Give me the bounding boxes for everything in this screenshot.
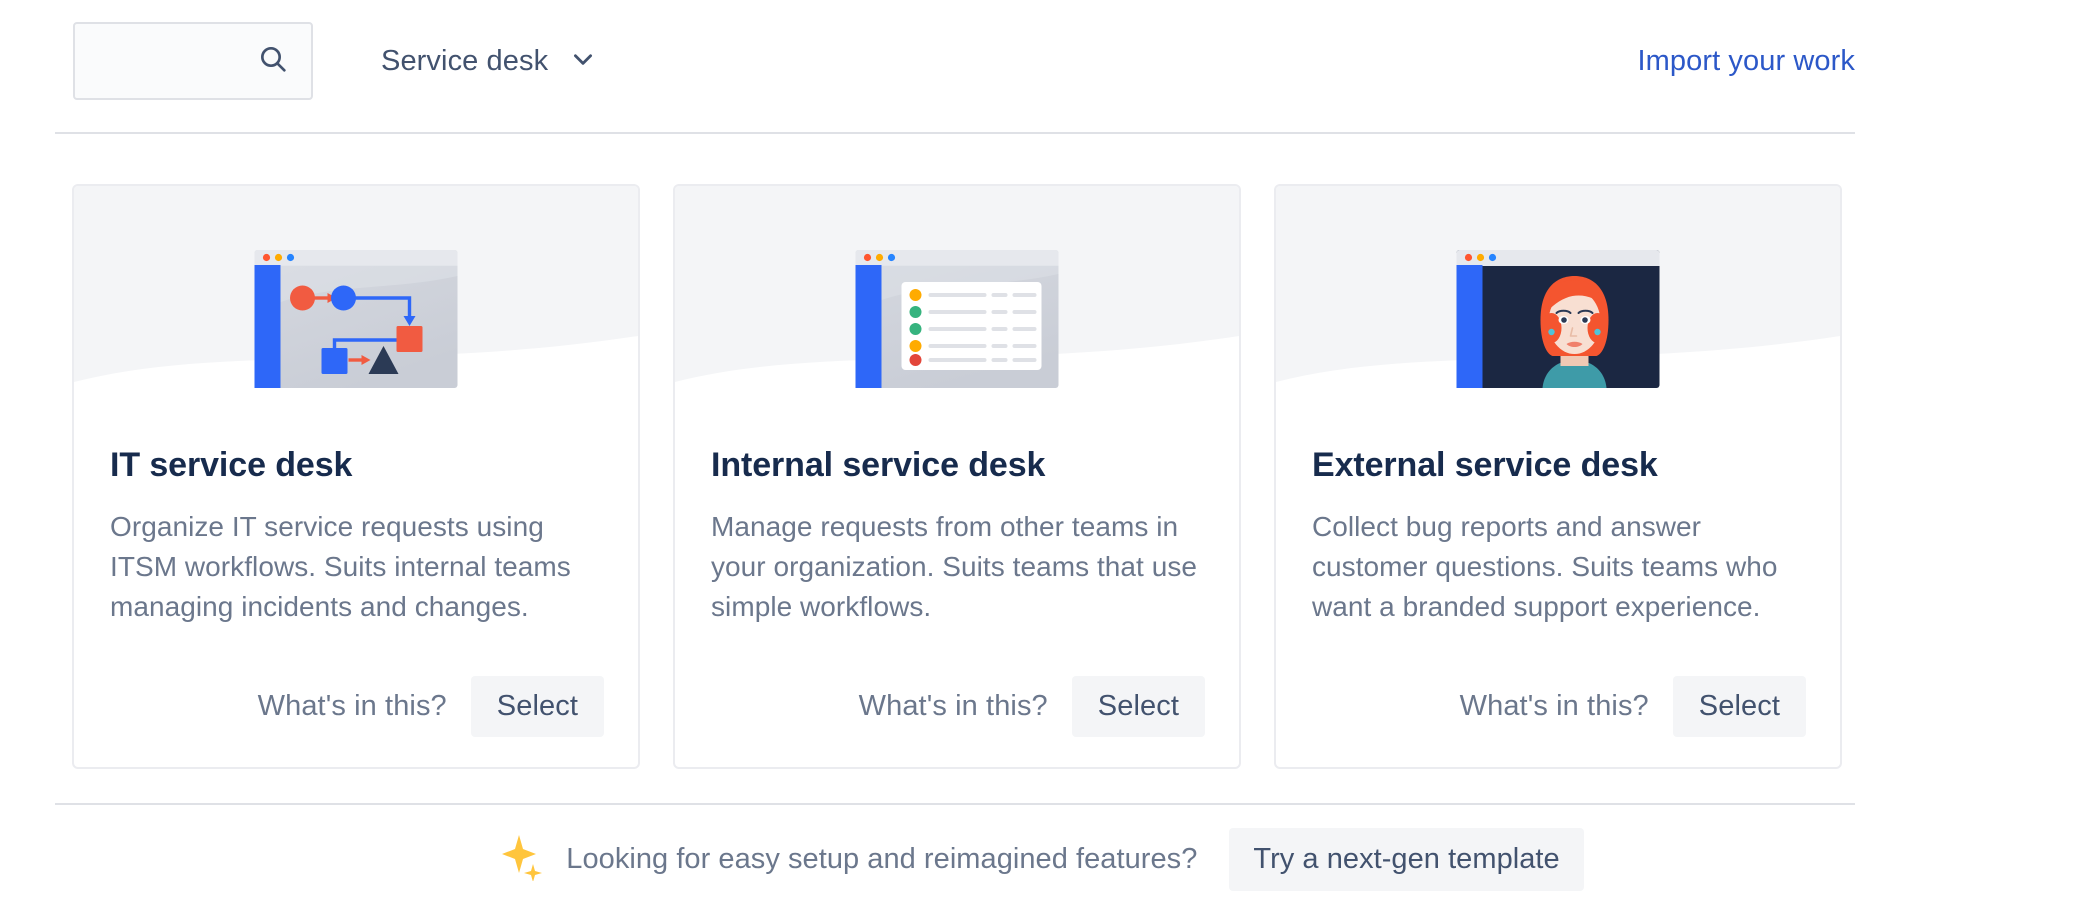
search-icon: [257, 43, 289, 80]
template-card-it-service-desk[interactable]: IT service desk Organize IT service requ…: [72, 184, 640, 769]
card-hero: [675, 186, 1239, 433]
card-body: Internal service desk Manage requests fr…: [675, 433, 1239, 676]
card-hero: [1276, 186, 1840, 433]
template-card-external-service-desk[interactable]: External service desk Collect bug report…: [1274, 184, 1842, 769]
template-picker-page: Service desk Import your work: [0, 0, 2086, 918]
whats-in-this-link[interactable]: What's in this?: [859, 690, 1048, 723]
category-dropdown[interactable]: Service desk: [375, 22, 602, 100]
card-actions: What's in this? Select: [74, 676, 638, 767]
select-button[interactable]: Select: [1673, 676, 1806, 737]
whats-in-this-link[interactable]: What's in this?: [1460, 690, 1649, 723]
next-gen-promo-footer: Looking for easy setup and reimagined fe…: [0, 828, 2086, 891]
template-card-grid: IT service desk Organize IT service requ…: [72, 184, 1847, 769]
workflow-diagram-illustration: [255, 250, 458, 388]
footer-divider: [55, 803, 1855, 805]
template-toolbar: Service desk Import your work: [55, 0, 1855, 130]
category-dropdown-label: Service desk: [381, 45, 548, 78]
import-your-work-link[interactable]: Import your work: [1637, 22, 1855, 100]
card-actions: What's in this? Select: [1276, 676, 1840, 767]
card-title: Internal service desk: [711, 446, 1203, 485]
select-button[interactable]: Select: [1072, 676, 1205, 737]
card-hero: [74, 186, 638, 433]
chevron-down-icon: [570, 46, 596, 77]
card-title: External service desk: [1312, 446, 1804, 485]
request-queue-list-illustration: [856, 250, 1059, 388]
search-box[interactable]: [73, 22, 313, 100]
footer-promo-text: Looking for easy setup and reimagined fe…: [566, 843, 1197, 876]
whats-in-this-link[interactable]: What's in this?: [258, 690, 447, 723]
card-actions: What's in this? Select: [675, 676, 1239, 767]
select-button[interactable]: Select: [471, 676, 604, 737]
toolbar-divider: [55, 132, 1855, 134]
card-body: IT service desk Organize IT service requ…: [74, 433, 638, 676]
customer-portrait-illustration: [1457, 250, 1660, 388]
card-description: Manage requests from other teams in your…: [711, 507, 1203, 627]
try-next-gen-template-button[interactable]: Try a next-gen template: [1229, 828, 1583, 891]
card-title: IT service desk: [110, 446, 602, 485]
card-body: External service desk Collect bug report…: [1276, 433, 1840, 676]
portrait-figure: [1541, 276, 1609, 388]
card-description: Organize IT service requests using ITSM …: [110, 507, 602, 627]
template-card-internal-service-desk[interactable]: Internal service desk Manage requests fr…: [673, 184, 1241, 769]
sparkle-icon: [502, 833, 546, 886]
card-description: Collect bug reports and answer customer …: [1312, 507, 1804, 627]
